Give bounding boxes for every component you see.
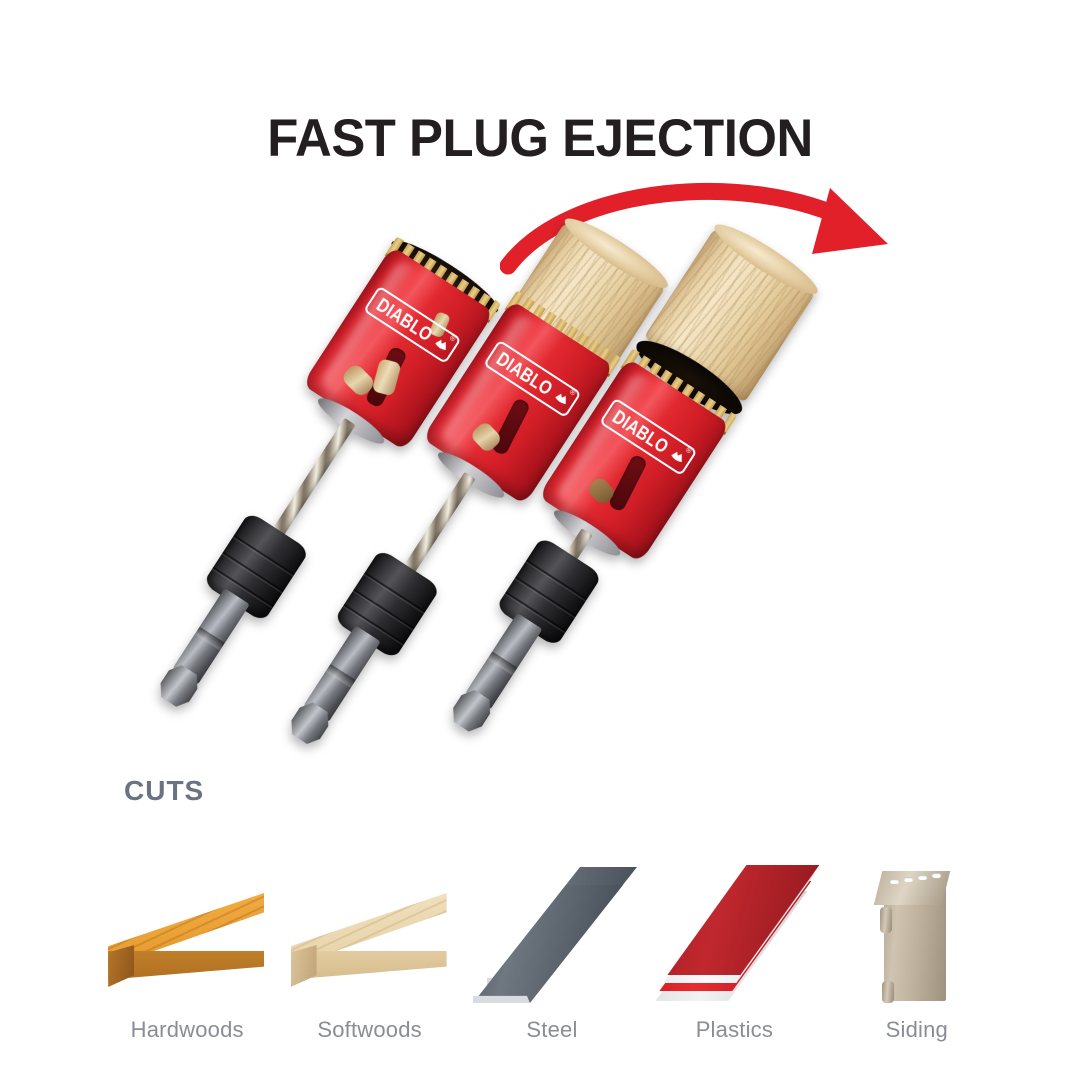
arbor-ring-1a xyxy=(233,535,294,576)
material-label-siding: Siding xyxy=(886,1017,948,1043)
siding-nail-slot-4 xyxy=(932,873,941,878)
siding-nail-slot-1 xyxy=(890,879,899,884)
arbor-ring-1b xyxy=(222,551,283,592)
hardwood-board-icon xyxy=(102,863,272,1003)
material-item-hardwoods: Hardwoods xyxy=(96,828,278,1043)
material-label-hardwoods: Hardwoods xyxy=(131,1017,244,1043)
steel-face-front xyxy=(473,885,623,1003)
plastic-sheets-icon xyxy=(649,863,819,1003)
diablo-devil-head-icon-1: ® xyxy=(432,334,452,353)
material-item-softwoods: Softwoods xyxy=(278,828,460,1043)
material-label-plastics: Plastics xyxy=(696,1017,773,1043)
arbor-ring-2a xyxy=(364,572,425,613)
vinyl-siding-icon xyxy=(832,863,1002,1003)
arbor-ring-2b xyxy=(353,589,414,630)
siding-nail-slot-2 xyxy=(904,877,913,882)
plastic-layer-top-red xyxy=(667,865,819,975)
siding-bottom-lock-lip xyxy=(882,981,894,1003)
steel-sheet-icon xyxy=(467,863,637,1003)
material-item-siding: Siding xyxy=(826,828,1008,1043)
product-feature-graphic: FAST PLUG EJECTION xyxy=(0,0,1080,1080)
cuts-heading: CUTS xyxy=(124,775,204,807)
material-label-softwoods: Softwoods xyxy=(317,1017,422,1043)
steel-sheet-front xyxy=(473,885,623,1003)
hero-illustration: DIABLO ® xyxy=(0,0,1080,790)
diablo-devil-head-icon-2: ® xyxy=(552,388,572,407)
material-item-plastics: Plastics xyxy=(643,828,825,1043)
siding-top-lock-lip xyxy=(880,907,892,933)
siding-nail-slot-3 xyxy=(918,875,927,880)
arbor-ring-3b xyxy=(515,576,576,617)
arbor-ring-3a xyxy=(526,559,587,600)
material-item-steel: Steel xyxy=(461,828,643,1043)
material-label-steel: Steel xyxy=(526,1017,577,1043)
softwood-board-icon xyxy=(285,863,455,1003)
materials-row: Hardwoods Softwoods S xyxy=(96,828,1008,1043)
diablo-devil-head-icon-3: ® xyxy=(668,446,688,465)
